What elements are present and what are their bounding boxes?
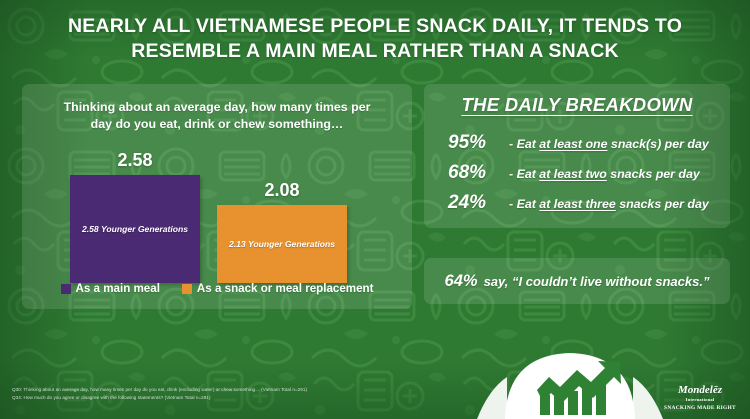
breakdown-percent: 95%: [448, 132, 502, 154]
footnote-line: Q34: How much do you agree or disagree w…: [12, 394, 442, 403]
breakdown-percent: 24%: [448, 192, 502, 214]
mondelez-logo: Mondelēz International SNACKING MADE RIG…: [658, 385, 742, 411]
legend-label-main-meal: As a main meal: [76, 282, 160, 295]
breakdown-row: 24% - Eat at least three snacks per day: [448, 192, 723, 214]
chart-question-label: Thinking about an average day, how many …: [52, 99, 382, 132]
breakdown-prefix: - Eat: [509, 137, 539, 151]
logo-tagline: SNACKING MADE RIGHT: [658, 405, 742, 411]
breakdown-suffix: snacks per day: [616, 197, 709, 211]
breakdown-percent: 68%: [448, 162, 502, 184]
breakdown-prefix: - Eat: [509, 167, 539, 181]
footnotes: Q30: Thinking about an average day, how …: [12, 386, 442, 403]
bar-group-main-meal: 2.58 2.58 Younger Generations: [70, 150, 200, 283]
logo-brand-name: Mondelēz: [658, 385, 742, 396]
breakdown-row: 68% - Eat at least two snacks per day: [448, 162, 723, 184]
breakdown-emphasis: at least three: [539, 197, 615, 211]
breakdown-suffix: snack(s) per day: [607, 137, 708, 151]
breakdown-row: 95% - Eat at least one snack(s) per day: [448, 132, 723, 154]
daily-breakdown-panel: THE DAILY BREAKDOWN 95% - Eat at least o…: [424, 84, 730, 228]
legend-swatch-snack: [182, 284, 192, 294]
bar-group-snack: 2.08 2.13 Younger Generations: [217, 180, 347, 283]
legend-item-snack: As a snack or meal replacement: [182, 282, 374, 295]
chart-panel: Thinking about an average day, how many …: [22, 84, 412, 309]
breakdown-prefix: - Eat: [509, 197, 539, 211]
footnote-line: Q30: Thinking about an average day, how …: [12, 386, 442, 395]
breakdown-description: - Eat at least three snacks per day: [509, 197, 709, 211]
bar-inner-label-main-meal: 2.58 Younger Generations: [78, 224, 192, 234]
quote-row: 64% say, “I couldn’t live without snacks…: [424, 258, 730, 304]
breakdown-emphasis: at least one: [539, 137, 607, 151]
bar-snack: 2.13 Younger Generations: [217, 205, 347, 283]
chart-legend: As a main meal As a snack or meal replac…: [22, 282, 412, 295]
quote-percent: 64%: [445, 272, 478, 291]
quote-panel: 64% say, “I couldn’t live without snacks…: [424, 258, 730, 304]
breakdown-description: - Eat at least one snack(s) per day: [509, 137, 709, 151]
legend-swatch-main-meal: [61, 284, 71, 294]
quote-text: say, “I couldn’t live without snacks.”: [484, 274, 710, 289]
daily-breakdown-list: 95% - Eat at least one snack(s) per day …: [448, 132, 723, 222]
bar-inner-label-snack: 2.13 Younger Generations: [225, 239, 339, 249]
page-title: NEARLY ALL VIETNAMESE PEOPLE SNACK DAILY…: [0, 14, 750, 63]
breakdown-suffix: snacks per day: [607, 167, 700, 181]
breakdown-description: - Eat at least two snacks per day: [509, 167, 700, 181]
daily-breakdown-title: THE DAILY BREAKDOWN: [424, 94, 730, 116]
bar-value-snack: 2.08: [217, 180, 347, 201]
infographic-root: NEARLY ALL VIETNAMESE PEOPLE SNACK DAILY…: [0, 0, 750, 419]
bar-value-main-meal: 2.58: [70, 150, 200, 171]
logo-brand-sub: International: [658, 397, 742, 402]
growth-chart-badge: [477, 343, 663, 419]
legend-label-snack: As a snack or meal replacement: [197, 282, 374, 295]
bar-main-meal: 2.58 Younger Generations: [70, 175, 200, 283]
legend-item-main-meal: As a main meal: [61, 282, 160, 295]
breakdown-emphasis: at least two: [539, 167, 606, 181]
